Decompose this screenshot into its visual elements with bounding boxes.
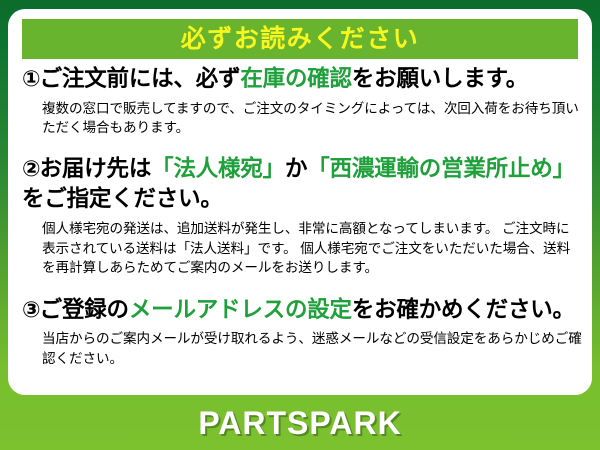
notice-item-2-heading-part-1: お届け先は [40,156,152,181]
notice-item-3-heading-part-3: をお確かめください。 [352,297,575,322]
notice-item-3-heading-part-1: ご登録の [40,297,129,322]
notice-item-1-heading-part-1: ご注文前には、必ず [40,66,241,91]
notice-item-2-number: ② [22,156,40,181]
notice-card: 必ずお読みください ①ご注文前には、必ず在庫の確認をお願いします。 複数の窓口で… [8,9,592,395]
notice-item-2-body: 個人様宅宛の発送は、追加送料が発生し、非常に高額となってしまいます。 ご注文時に… [8,213,592,277]
notice-item-3: ③ご登録のメールアドレスの設定をお確かめください。 当店からのご案内メールが受け… [8,295,592,368]
notice-title-text: 必ずお読みください [181,27,420,52]
notice-item-3-number: ③ [22,297,40,322]
notice-item-3-body: 当店からのご案内メールが受け取れるよう、迷惑メールなどの受信設定をあらかじめご確… [8,324,592,368]
notice-items-list: ①ご注文前には、必ず在庫の確認をお願いします。 複数の窓口で販売してますので、ご… [8,64,592,368]
notice-item-1: ①ご注文前には、必ず在庫の確認をお願いします。 複数の窓口で販売してますので、ご… [8,64,592,137]
brand-logo-text: PARTSPARK [198,407,401,439]
notice-title-bar: 必ずお読みください [22,19,578,59]
notice-item-1-heading-part-2: 在庫の確認 [240,66,352,91]
notice-item-2: ②お届け先は「法人様宛」か「西濃運輸の営業所止め」をご指定ください。 個人様宅宛… [8,154,592,277]
footer-logo: PARTSPARK [0,396,600,450]
notice-item-3-heading-part-2: メールアドレスの設定 [129,297,352,322]
notice-item-2-heading: ②お届け先は「法人様宛」か「西濃運輸の営業所止め」をご指定ください。 [8,154,592,213]
notice-item-2-heading-part-4: 「西濃運輸の営業所止め」 [307,156,575,181]
notice-item-1-heading-part-3: をお願いします。 [352,66,528,91]
notice-item-3-heading: ③ご登録のメールアドレスの設定をお確かめください。 [8,295,592,325]
notice-banner: 必ずお読みください ①ご注文前には、必ず在庫の確認をお願いします。 複数の窓口で… [0,0,600,450]
notice-item-2-heading-part-5: をご指定ください。 [22,186,223,211]
notice-item-1-heading: ①ご注文前には、必ず在庫の確認をお願いします。 [8,64,592,94]
notice-item-2-heading-part-3: か [285,156,307,181]
notice-item-1-body: 複数の窓口で販売してますので、ご注文のタイミングによっては、次回入荷をお待ち頂い… [8,94,592,138]
notice-item-2-heading-part-2: 「法人様宛」 [151,156,285,181]
notice-item-1-number: ① [22,66,40,91]
